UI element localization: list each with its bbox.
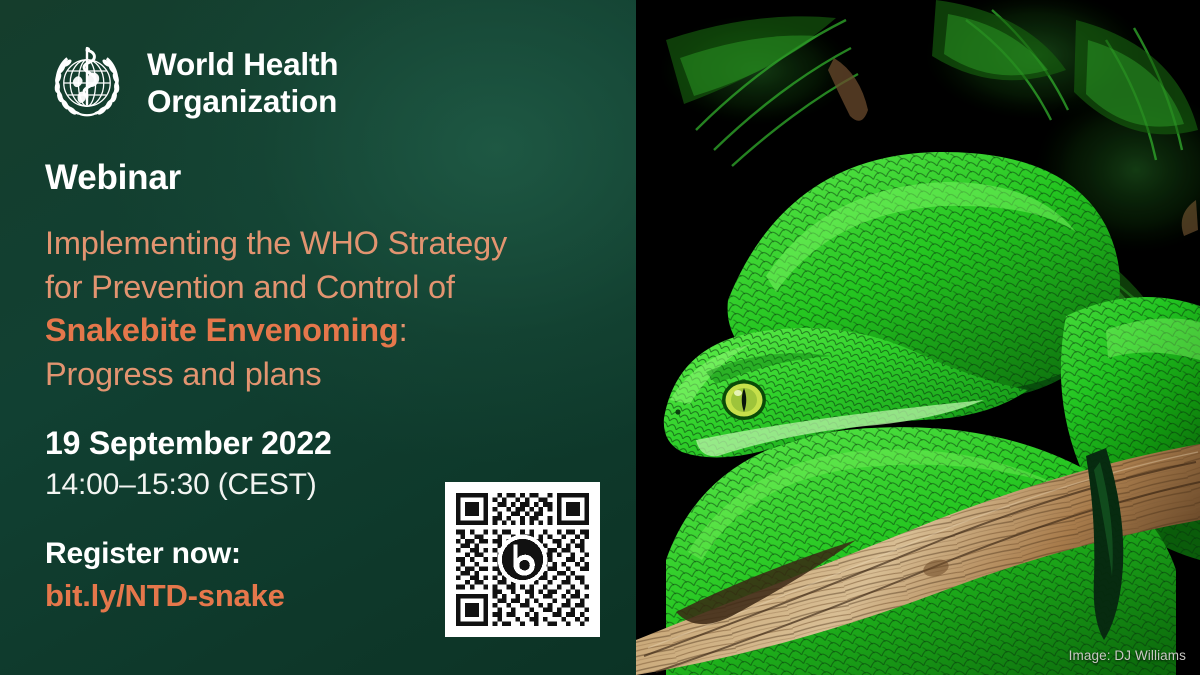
title-colon: : xyxy=(399,312,408,348)
title-line-2: for Prevention and Control of xyxy=(45,266,620,310)
event-time: 14:00–15:30 (CEST) xyxy=(45,468,317,502)
image-credit: Image: DJ Williams xyxy=(1069,648,1186,663)
left-content-panel: World Health Organization Webinar Implem… xyxy=(0,0,636,675)
page-title: Webinar xyxy=(45,158,181,198)
who-logo: World Health Organization xyxy=(44,40,338,126)
who-wordmark: World Health Organization xyxy=(147,46,338,120)
snake-photo: Image: DJ Williams xyxy=(636,0,1200,675)
title-line-3: Snakebite Envenoming: xyxy=(45,309,620,353)
title-line-4: Progress and plans xyxy=(45,353,620,397)
registration-link[interactable]: bit.ly/NTD-snake xyxy=(45,578,285,614)
green-bush-viper-icon xyxy=(636,0,1200,675)
register-label: Register now: xyxy=(45,537,241,571)
title-highlight: Snakebite Envenoming xyxy=(45,312,399,348)
qr-code[interactable] xyxy=(445,482,600,637)
webinar-title: Implementing the WHO Strategy for Preven… xyxy=(45,222,620,397)
qr-code-icon xyxy=(456,493,589,626)
bitly-logo-icon xyxy=(502,539,543,580)
webinar-promo-poster: World Health Organization Webinar Implem… xyxy=(0,0,1200,675)
event-date: 19 September 2022 xyxy=(45,425,332,462)
title-line-1: Implementing the WHO Strategy xyxy=(45,222,620,266)
who-emblem-icon xyxy=(44,40,130,126)
